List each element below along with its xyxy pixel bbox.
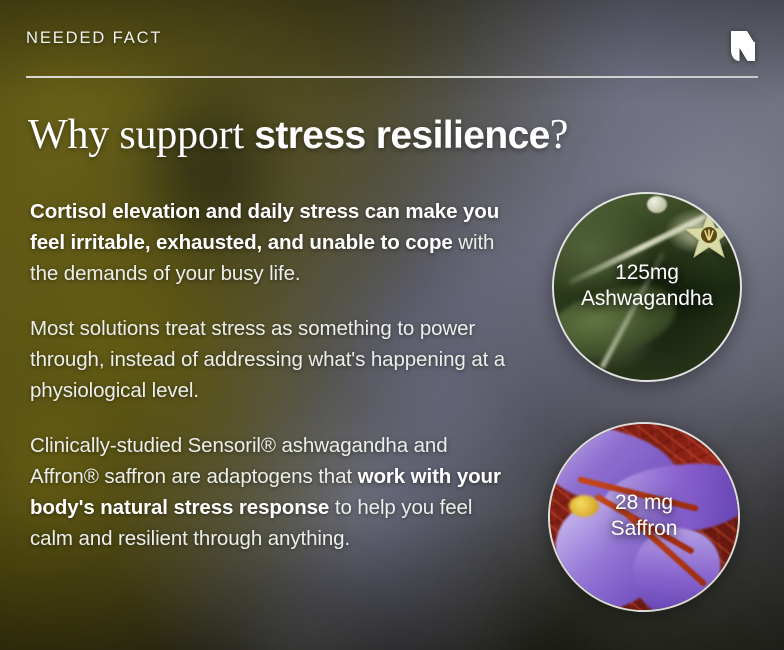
ingredient-label-saffron: 28 mg Saffron [611,490,678,544]
headline-emphasis: stress resilience [254,114,550,157]
star-flower-icon [682,209,736,263]
paragraph-2: Most solutions treat stress as something… [30,313,530,406]
headline-suffix: ? [550,112,568,158]
text-run: Most solutions treat stress as something… [30,317,505,402]
body-copy: Cortisol elevation and daily stress can … [30,196,530,554]
header-divider [26,76,758,78]
paragraph-3: Clinically-studied Sensoril® ashwagandha… [30,430,516,554]
card-content: NEEDED FACT Why support stress resilienc… [0,0,784,650]
emphasis-run: Cortisol elevation and daily stress can … [30,200,499,254]
ingredient-amount: 125mg [581,260,713,286]
headline-prefix: Why support [28,112,254,158]
ingredient-label-ashwagandha: 125mg Ashwagandha [581,260,713,314]
card-header: NEEDED FACT [26,30,758,78]
eyebrow-label: NEEDED FACT [26,30,162,47]
ingredient-name: Ashwagandha [581,286,713,312]
flower-bud-icon [647,196,667,213]
needed-n-logo-icon [728,30,758,62]
ingredient-circle-ashwagandha: 125mg Ashwagandha [552,192,742,382]
paragraph-1: Cortisol elevation and daily stress can … [30,196,512,289]
ingredient-circle-saffron: 28 mg Saffron [548,422,740,612]
infographic-card: NEEDED FACT Why support stress resilienc… [0,0,784,650]
page-title: Why support stress resilience? [28,112,568,159]
ingredient-amount: 28 mg [611,490,678,516]
ingredient-name: Saffron [611,516,678,542]
